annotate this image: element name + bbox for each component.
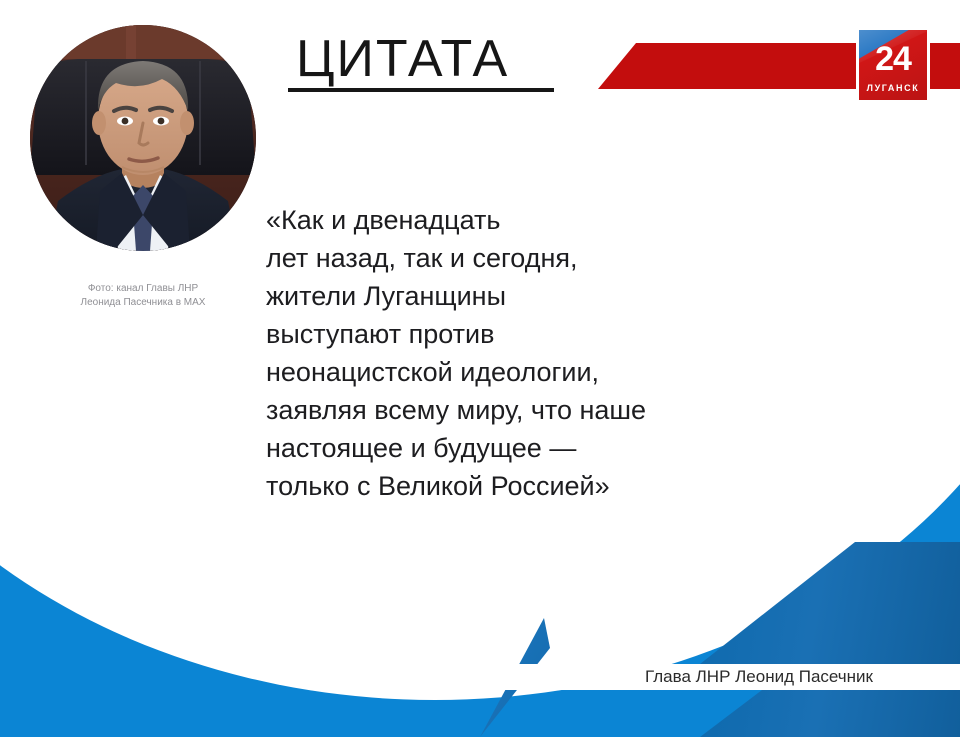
portrait-illustration — [30, 25, 256, 251]
quote-line: настоящее и будущее — — [266, 429, 686, 467]
logo-number-text: 24 — [859, 42, 927, 76]
quote-line: лет назад, так и сегодня, — [266, 239, 686, 277]
quote-line: жители Луганщины — [266, 277, 686, 315]
photo-credit: Фото: канал Главы ЛНР Леонида Пасечника … — [30, 282, 256, 310]
page-title: ЦИТАТА — [296, 30, 509, 88]
attribution-text: Глава ЛНР Леонид Пасечник — [645, 664, 873, 690]
channel-logo[interactable]: 24 ЛУГАНСК — [856, 27, 930, 103]
quote-line: неонацистской идеологии, — [266, 353, 686, 391]
quote-line: только с Великой Россией» — [266, 467, 686, 505]
logo-subtitle-text: ЛУГАНСК — [859, 83, 927, 93]
quote-line: «Как и двенадцать — [266, 201, 686, 239]
quote-text: «Как и двенадцать лет назад, так и сегод… — [266, 201, 686, 505]
page-title-underline — [288, 88, 554, 92]
quote-card: ЛУГАНСК 24 24 ЛУГАНСК ЦИТАТА — [0, 0, 960, 737]
quote-line: заявляя всему миру, что наше — [266, 391, 686, 429]
portrait-photo — [30, 25, 256, 251]
photo-credit-line-2: Леонида Пасечника в МАХ — [30, 296, 256, 310]
photo-credit-line-1: Фото: канал Главы ЛНР — [30, 282, 256, 296]
quote-line: выступают против — [266, 315, 686, 353]
